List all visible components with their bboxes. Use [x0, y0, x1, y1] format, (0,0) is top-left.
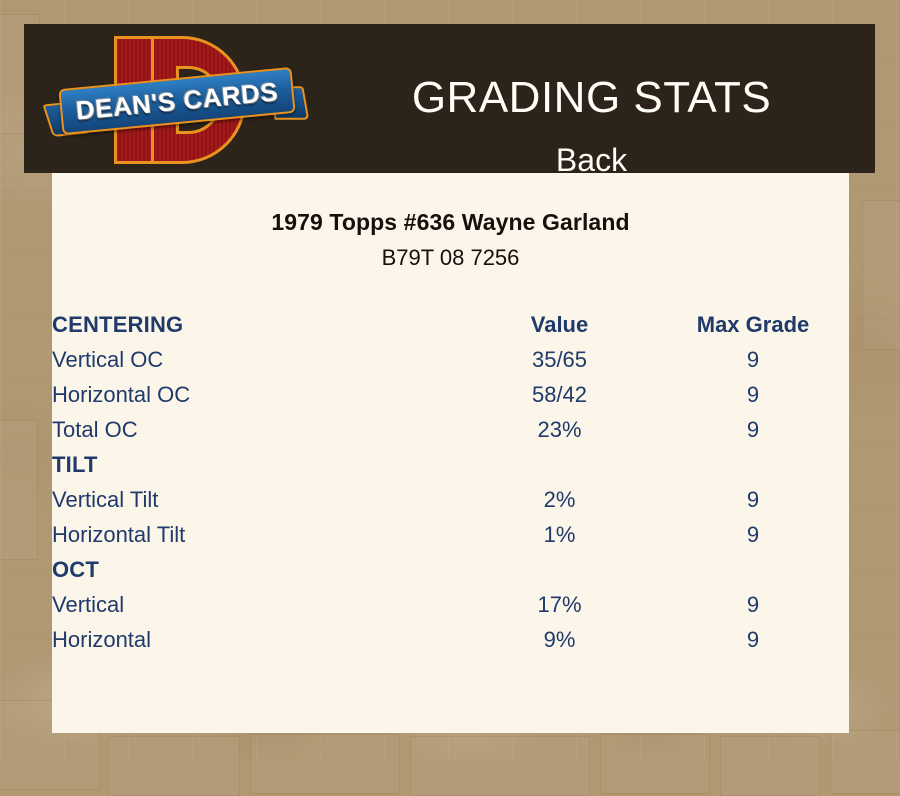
table-header-row: CENTERING Value Max Grade: [52, 307, 849, 342]
row-value: 35/65: [462, 342, 657, 377]
row-grade: 9: [657, 342, 849, 377]
row-value: 23%: [462, 412, 657, 447]
page-subtitle: Back: [308, 144, 875, 173]
row-label: Horizontal OC: [52, 377, 462, 412]
table-row: Horizontal 9% 9: [52, 622, 849, 657]
table-row: Horizontal Tilt 1% 9: [52, 517, 849, 552]
row-grade: 9: [657, 622, 849, 657]
row-value: 9%: [462, 622, 657, 657]
row-label: Vertical OC: [52, 342, 462, 377]
content-panel: 1979 Topps #636 Wayne Garland B79T 08 72…: [52, 173, 849, 733]
section-spacer: [657, 447, 849, 482]
column-header-max-grade: Max Grade: [657, 307, 849, 342]
row-grade: 9: [657, 587, 849, 622]
row-grade: 9: [657, 412, 849, 447]
row-label: Horizontal: [52, 622, 462, 657]
section-header-row: OCT: [52, 552, 849, 587]
row-grade: 9: [657, 377, 849, 412]
table-row: Vertical 17% 9: [52, 587, 849, 622]
section-header-tilt: TILT: [52, 447, 462, 482]
row-value: 1%: [462, 517, 657, 552]
grading-stats-table: CENTERING Value Max Grade Vertical OC 35…: [52, 307, 849, 657]
row-value: 17%: [462, 587, 657, 622]
table-row: Vertical OC 35/65 9: [52, 342, 849, 377]
header-bar: DEAN'S CARDS GRADING STATS Back: [24, 24, 875, 173]
deans-cards-logo[interactable]: DEAN'S CARDS: [46, 28, 308, 170]
page-title: GRADING STATS: [308, 76, 875, 120]
row-grade: 9: [657, 482, 849, 517]
row-grade: 9: [657, 517, 849, 552]
table-row: Total OC 23% 9: [52, 412, 849, 447]
row-label: Vertical Tilt: [52, 482, 462, 517]
row-label: Vertical: [52, 587, 462, 622]
card-code: B79T 08 7256: [52, 245, 849, 271]
row-value: 58/42: [462, 377, 657, 412]
section-spacer: [657, 552, 849, 587]
table-row: Horizontal OC 58/42 9: [52, 377, 849, 412]
column-header-value: Value: [462, 307, 657, 342]
row-label: Horizontal Tilt: [52, 517, 462, 552]
stats-table-body: CENTERING Value Max Grade Vertical OC 35…: [52, 307, 849, 657]
section-spacer: [462, 552, 657, 587]
logo-ribbon-icon: DEAN'S CARDS: [46, 74, 308, 136]
section-header-centering: CENTERING: [52, 307, 462, 342]
card-title: 1979 Topps #636 Wayne Garland: [52, 209, 849, 236]
table-row: Vertical Tilt 2% 9: [52, 482, 849, 517]
row-label: Total OC: [52, 412, 462, 447]
section-header-row: TILT: [52, 447, 849, 482]
logo-text: DEAN'S CARDS: [58, 67, 295, 135]
row-value: 2%: [462, 482, 657, 517]
section-header-oct: OCT: [52, 552, 462, 587]
section-spacer: [462, 447, 657, 482]
